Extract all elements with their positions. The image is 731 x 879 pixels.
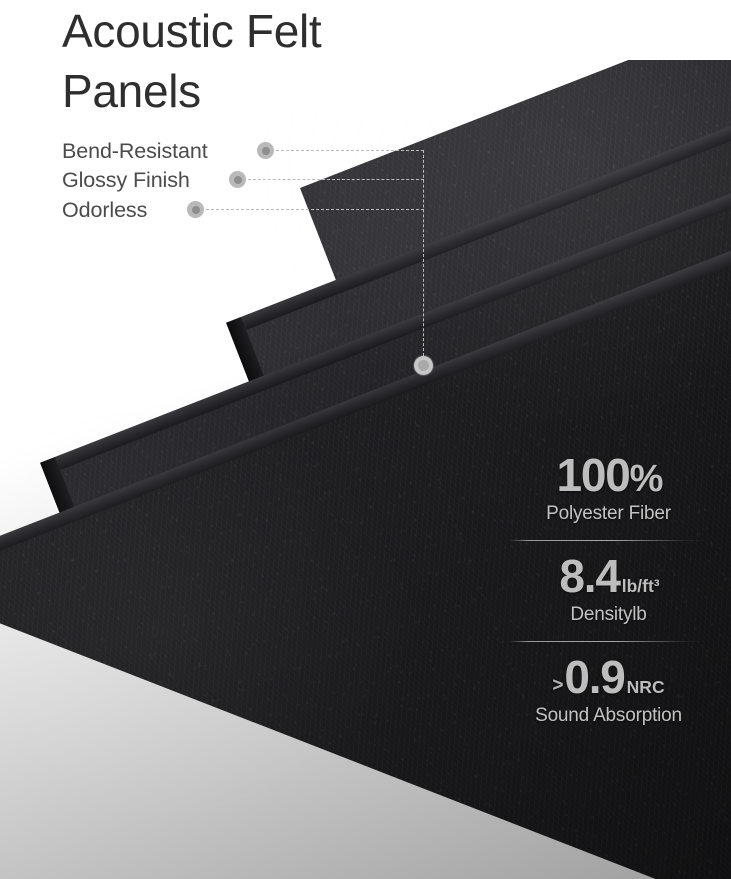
spec-polyester-fiber: 100 % Polyester Fiber xyxy=(486,452,731,527)
connector-line-vertical xyxy=(423,150,424,356)
spec-divider xyxy=(509,540,709,541)
spec-density: 8.4 lb/ft³ Densitylb xyxy=(486,553,731,628)
feature-label-bend-resistant: Bend-Resistant xyxy=(62,139,208,164)
connector-line-glossy-finish xyxy=(248,179,424,180)
spec-caption: Densitylb xyxy=(486,604,731,626)
spec-sound-absorption: > 0.9 NRC Sound Absorption xyxy=(486,654,731,729)
feature-label-odorless: Odorless xyxy=(62,198,147,223)
connector-line-odorless xyxy=(206,209,424,210)
spec-number: 0.9 xyxy=(564,654,624,700)
callout-endpoint-dot xyxy=(414,356,433,375)
feature-dot-bend-resistant xyxy=(257,142,274,159)
feature-dot-odorless xyxy=(187,201,204,218)
feature-dot-glossy-finish xyxy=(229,171,246,188)
product-marketing-image: Acoustic Felt Panels Bend-Resistant Glos… xyxy=(0,0,731,879)
connector-line-bend-resistant xyxy=(276,150,424,151)
spec-caption: Polyester Fiber xyxy=(486,503,731,525)
spec-unit: NRC xyxy=(627,679,665,697)
feature-label-glossy-finish: Glossy Finish xyxy=(62,168,190,193)
spec-number: 8.4 xyxy=(559,553,619,599)
spec-value-row: 8.4 lb/ft³ xyxy=(486,553,731,599)
spec-caption: Sound Absorption xyxy=(486,705,731,727)
spec-prefix: > xyxy=(552,676,562,695)
spec-value-row: > 0.9 NRC xyxy=(486,654,731,700)
spec-divider xyxy=(509,641,709,642)
spec-list: 100 % Polyester Fiber 8.4 lb/ft³ Density… xyxy=(486,452,731,729)
spec-number: 100 xyxy=(557,452,630,498)
spec-unit: % xyxy=(630,460,663,498)
feature-callout-group: Bend-Resistant Glossy Finish Odorless xyxy=(0,0,731,400)
spec-value-row: 100 % xyxy=(486,452,731,498)
spec-unit: lb/ft³ xyxy=(622,578,660,596)
